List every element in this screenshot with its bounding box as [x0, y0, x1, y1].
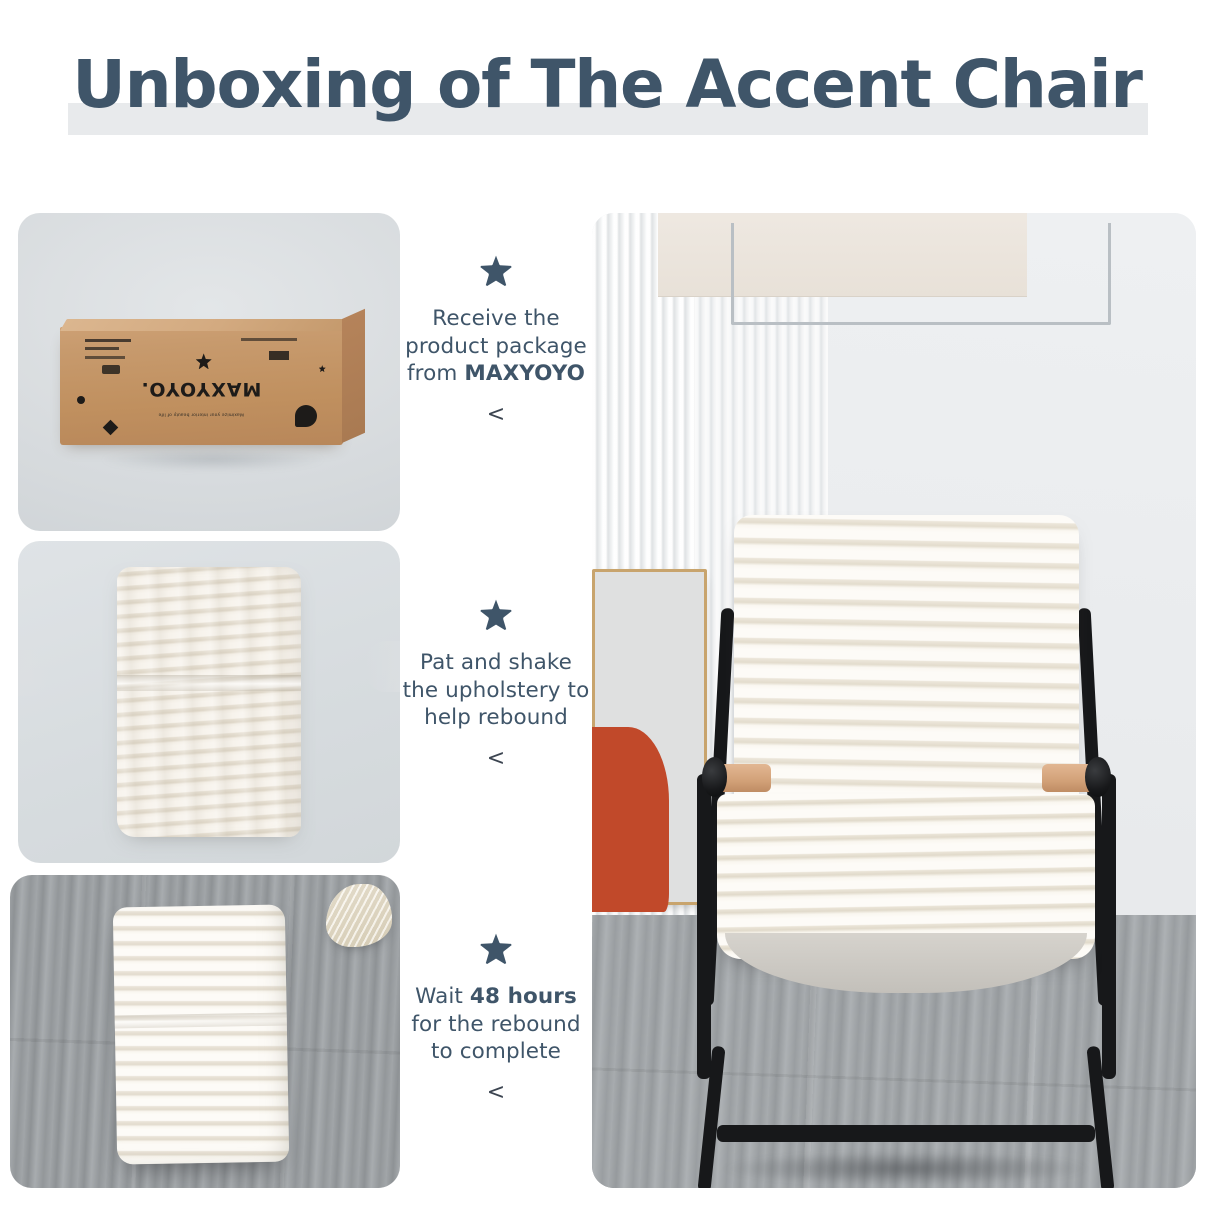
infographic-page: Unboxing of The Accent Chair MAXYOYO. Ma… — [0, 0, 1214, 1214]
metal-frame-rail — [731, 223, 1112, 325]
carton-print-line — [241, 338, 297, 341]
step-3-text-bold: 48 hours — [470, 984, 577, 1009]
chair-frame-crossbar — [717, 1125, 1095, 1142]
cardboard-carton: MAXYOYO. Maximize your interior beauty o… — [60, 327, 343, 445]
chair-frame-arm-left — [697, 774, 711, 1079]
step-1-text: Receive the product package from MAXYOYO — [400, 305, 592, 388]
carton-print-block — [102, 365, 120, 374]
carton-brand-logo: MAXYOYO. — [141, 378, 262, 400]
accent-chair — [701, 515, 1112, 1178]
carton-print-line — [85, 347, 119, 350]
carton-diamond-icon — [103, 419, 119, 435]
carton-small-star-icon — [319, 365, 326, 372]
cushion-left-notch — [18, 650, 52, 695]
carton-top-face — [60, 319, 349, 331]
rebounded-cushion-body — [113, 905, 289, 1165]
photo-compressed-cushion — [18, 541, 400, 863]
step-3-text-suffix: for the rebound to complete — [411, 1012, 580, 1065]
step-3-text-prefix: Wait — [415, 984, 470, 1009]
page-title: Unboxing of The Accent Chair — [0, 52, 1214, 118]
carton-print-block — [269, 351, 289, 360]
artwork-mat — [595, 572, 704, 902]
photo-accent-chair-scene — [592, 213, 1196, 1188]
step-1-text-bold: MAXYOYO — [464, 361, 585, 386]
chair-back-cushion — [734, 515, 1079, 820]
compressed-cushion-body — [117, 567, 300, 837]
step-3-text: Wait 48 hours for the rebound to complet… — [400, 983, 592, 1066]
carton-tagline: Maximize your interior beauty of life — [159, 412, 245, 417]
star-icon — [479, 933, 513, 965]
box-ground-shadow — [102, 448, 324, 470]
cushion-right-notch — [366, 641, 400, 693]
framed-artwork — [592, 569, 707, 905]
carton-circle-icon — [295, 405, 317, 427]
step-3: Wait 48 hours for the rebound to complet… — [400, 933, 592, 1104]
star-icon — [479, 599, 513, 631]
chair-armrest-knob-left — [702, 757, 727, 797]
step-1-chevron-icon: < — [400, 404, 592, 426]
cushion-fold-line — [117, 675, 300, 691]
chair-frame-arm-right — [1102, 774, 1116, 1079]
step-1: Receive the product package from MAXYOYO… — [400, 255, 592, 426]
step-2-text-prefix: Pat and shake the upholstery to help reb… — [403, 650, 590, 730]
step-3-chevron-icon: < — [400, 1082, 592, 1104]
step-2-text: Pat and shake the upholstery to help reb… — [400, 649, 592, 732]
carton-print-line — [85, 356, 125, 359]
steps-column: Receive the product package from MAXYOYO… — [400, 213, 592, 1188]
chair-armrest-knob-right — [1085, 757, 1110, 797]
header: Unboxing of The Accent Chair — [0, 0, 1214, 200]
carton-star-icon — [196, 353, 212, 369]
star-icon — [479, 255, 513, 287]
step-2-chevron-icon: < — [400, 748, 592, 770]
carton-side-face — [342, 309, 365, 443]
cushion-wave-texture — [117, 567, 300, 837]
cushion-fold-line — [115, 1013, 287, 1029]
carton-dot-icon — [77, 396, 85, 404]
artwork-orange-shape — [592, 727, 669, 912]
chair-fabric-sling — [725, 933, 1086, 993]
carton-print-line — [85, 339, 131, 342]
chair-ground-shadow — [725, 1152, 1086, 1185]
photo-rebounded-cushion — [10, 875, 400, 1188]
step-2: Pat and shake the upholstery to help reb… — [400, 599, 592, 770]
photo-product-package: MAXYOYO. Maximize your interior beauty o… — [18, 213, 400, 531]
